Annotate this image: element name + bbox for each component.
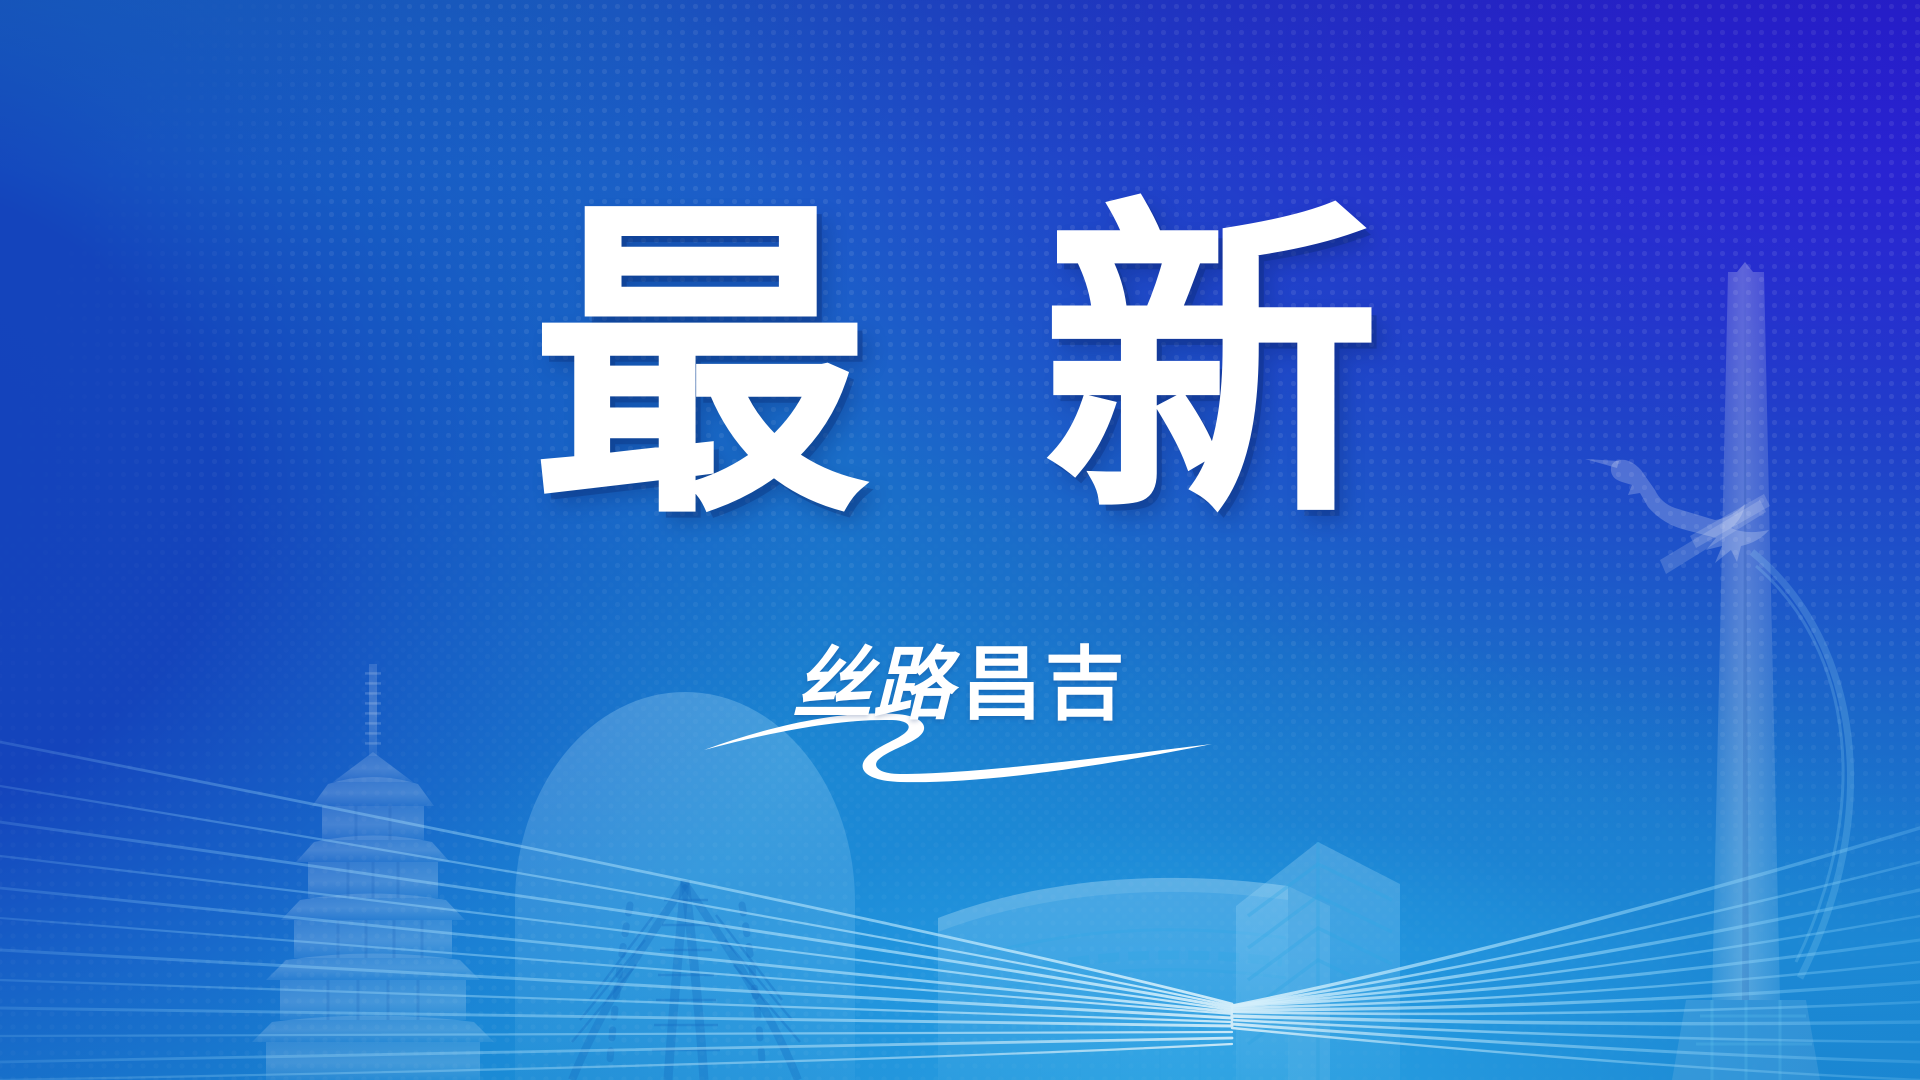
banner-canvas: 最 新 丝路昌吉: [0, 0, 1920, 1080]
vignette-overlay: [0, 0, 1920, 1080]
